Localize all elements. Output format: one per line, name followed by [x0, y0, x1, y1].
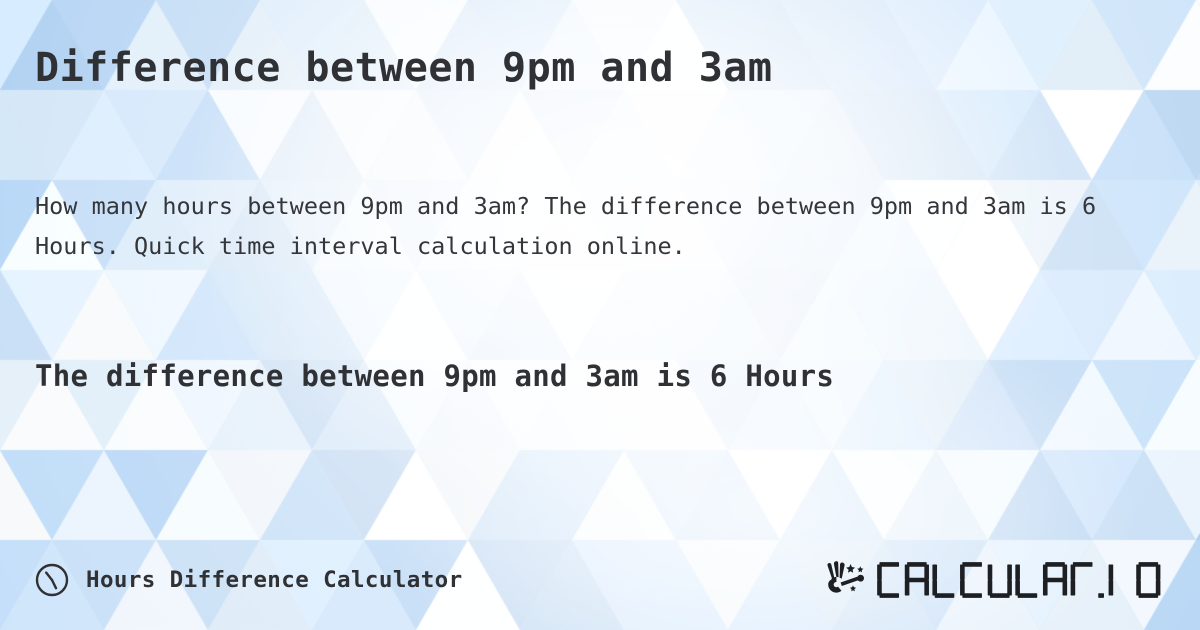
clock-icon — [35, 563, 69, 597]
result-statement: The difference between 9pm and 3am is 6 … — [35, 354, 1165, 398]
brand-wordmark — [876, 558, 1165, 602]
footer-brand-left[interactable]: Hours Difference Calculator — [35, 563, 463, 597]
site-logo[interactable] — [824, 558, 1165, 602]
page-title: Difference between 9pm and 3am — [35, 46, 772, 91]
footer-calculator-label: Hours Difference Calculator — [86, 567, 463, 593]
page-container: Difference between 9pm and 3am How many … — [0, 0, 1200, 630]
page-description: How many hours between 9pm and 3am? The … — [35, 186, 1147, 266]
magic-wand-hand-icon — [824, 558, 870, 602]
footer: Hours Difference Calculator — [0, 552, 1200, 608]
